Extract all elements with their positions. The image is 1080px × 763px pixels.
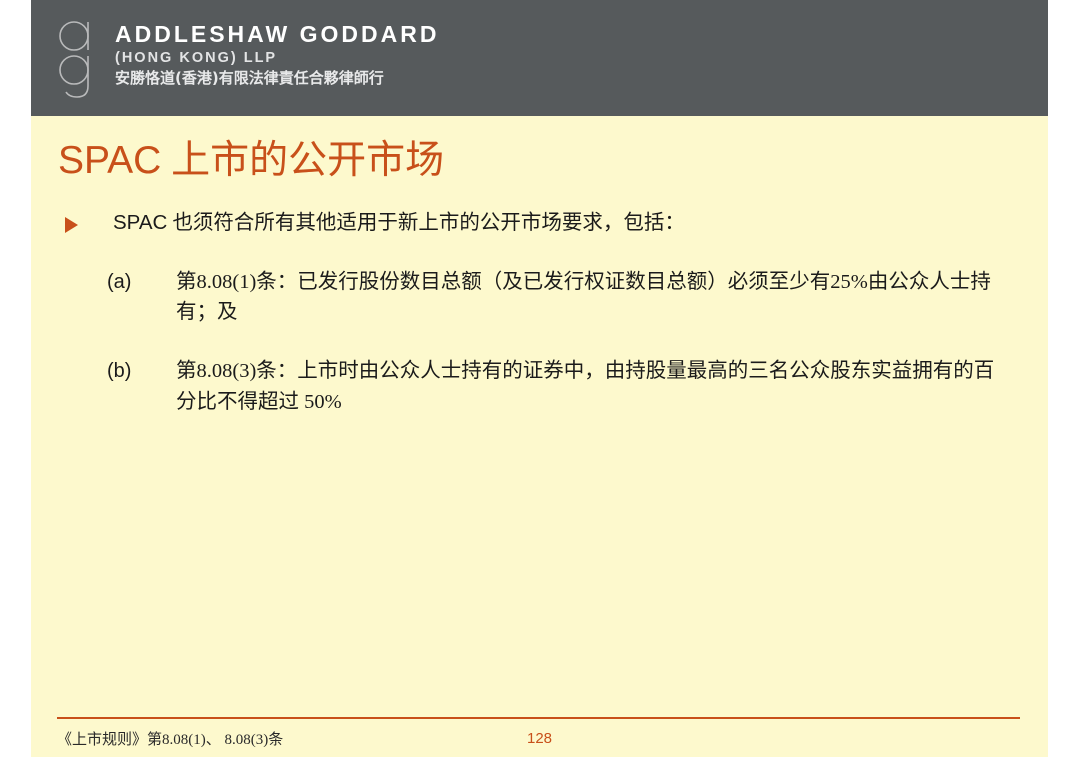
brand-name: ADDLESHAW GODDARD: [115, 22, 439, 47]
logo-text-block: ADDLESHAW GODDARD (HONG KONG) LLP 安勝恪道(香…: [115, 16, 439, 88]
company-logo: ADDLESHAW GODDARD (HONG KONG) LLP 安勝恪道(香…: [55, 16, 439, 100]
brand-name-chinese: 安勝恪道(香港)有限法律責任合夥律師行: [115, 69, 439, 89]
footer-divider: [57, 717, 1020, 719]
bullet-text-chinese: 也须符合所有其他适用于新上市的公开市场要求，包括：: [167, 212, 685, 234]
slide-title: SPAC 上市的公开市场: [58, 137, 444, 186]
list-item-text: 第8.08(1)条：已发行股份数目总额（及已发行权证数目总额）必须至少有25%由…: [176, 267, 1006, 329]
triangle-bullet-icon: [65, 217, 78, 233]
list-item-text: 第8.08(3)条：上市时由公众人士持有的证券中，由持股量最高的三名公众股东实益…: [176, 356, 1006, 418]
presentation-slide: ADDLESHAW GODDARD (HONG KONG) LLP 安勝恪道(香…: [31, 0, 1048, 757]
slide-title-chinese: 上市的公开市场: [161, 139, 444, 182]
list-item-label: (b): [107, 356, 131, 386]
slide-title-latin: SPAC: [58, 139, 161, 182]
bullet-item: SPAC 也须符合所有其他适用于新上市的公开市场要求，包括：: [31, 208, 1048, 239]
bullet-text-latin: SPAC: [113, 211, 167, 234]
bullet-item-text: SPAC 也须符合所有其他适用于新上市的公开市场要求，包括：: [113, 208, 1048, 239]
ag-monogram-logo: [55, 16, 101, 100]
brand-entity: (HONG KONG) LLP: [115, 49, 439, 67]
list-item: (b) 第8.08(3)条：上市时由公众人士持有的证券中，由持股量最高的三名公众…: [31, 356, 1048, 418]
list-item-label: (a): [107, 267, 131, 297]
slide-body: SPAC 也须符合所有其他适用于新上市的公开市场要求，包括： (a) 第8.08…: [31, 208, 1048, 418]
list-item: (a) 第8.08(1)条：已发行股份数目总额（及已发行权证数目总额）必须至少有…: [31, 267, 1048, 329]
page-number: 128: [31, 730, 1048, 747]
slide-header-band: ADDLESHAW GODDARD (HONG KONG) LLP 安勝恪道(香…: [31, 0, 1048, 116]
